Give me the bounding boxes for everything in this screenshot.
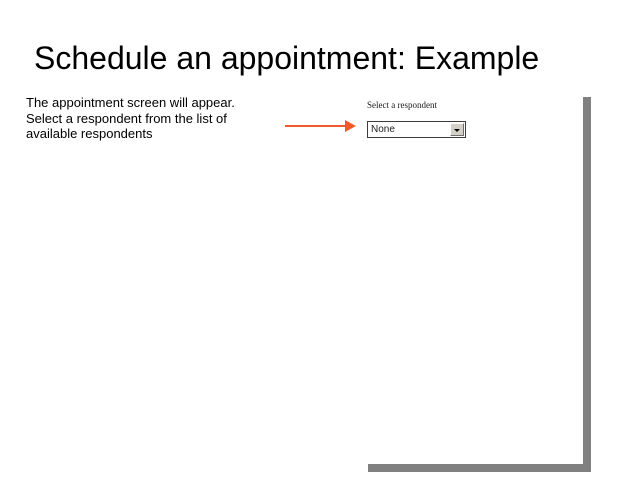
slide-body-text: The appointment screen will appear. Sele…: [26, 95, 254, 142]
page-title: Schedule an appointment: Example: [34, 38, 614, 78]
chevron-down-glyph: [454, 129, 460, 132]
callout-arrow-head: [345, 120, 356, 132]
respondent-field-label: Select a respondent: [367, 100, 437, 111]
chevron-down-icon[interactable]: [450, 123, 464, 136]
slide: Schedule an appointment: Example The app…: [0, 0, 640, 480]
respondent-select-value: None: [371, 124, 395, 136]
panel-shadow-bottom: [368, 464, 591, 472]
callout-arrow-line: [285, 125, 347, 127]
respondent-select[interactable]: None: [367, 121, 466, 138]
panel-shadow-right: [583, 97, 591, 465]
screenshot-panel: [360, 90, 583, 464]
callout-arrow-icon: [285, 119, 365, 134]
